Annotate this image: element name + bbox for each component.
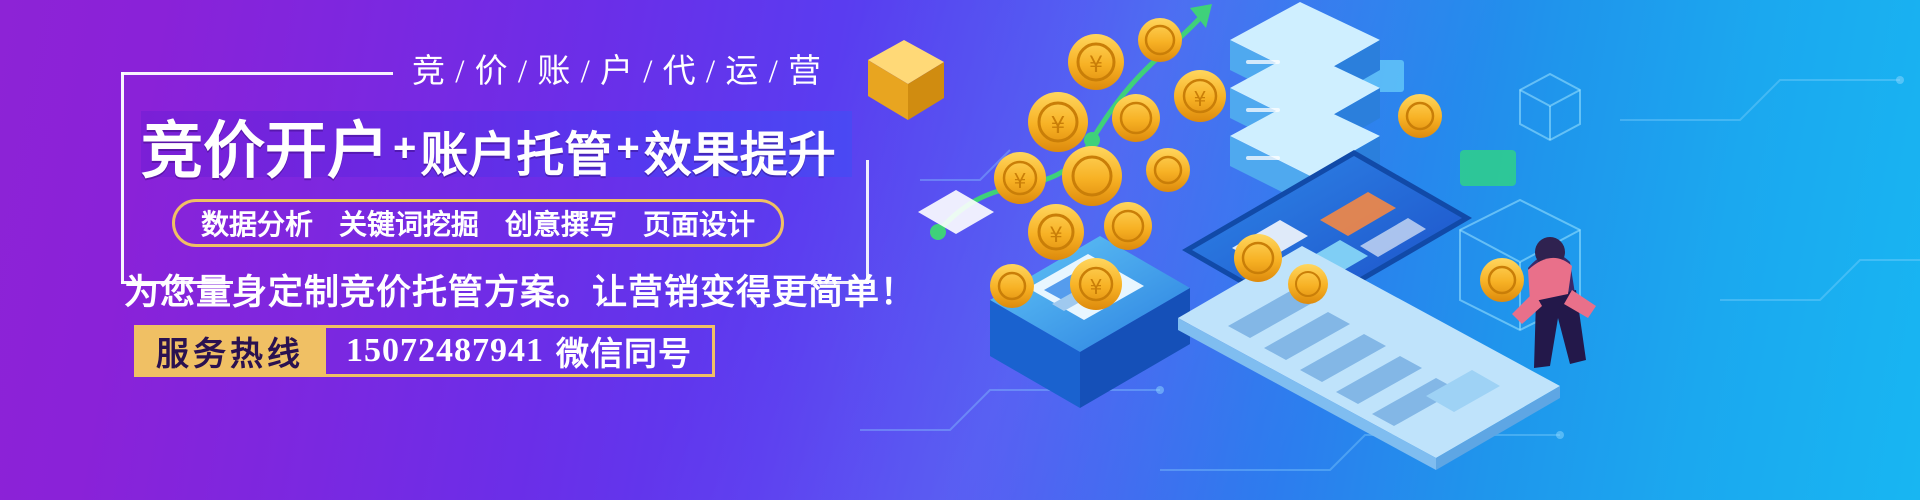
hotline-value: 15072487941 微信同号 (326, 325, 715, 377)
hotline-bar: 服务热线 15072487941 微信同号 (134, 325, 715, 377)
svg-text:¥: ¥ (1051, 113, 1066, 139)
green-panel (1460, 150, 1516, 186)
coin: ¥ (1070, 258, 1122, 310)
coin (1288, 264, 1328, 304)
copy-block: 竞 / 价 / 账 / 户 / 代 / 运 / 营 竞价开户 + 账户托管 + … (0, 0, 940, 500)
coin: ¥ (1068, 34, 1124, 90)
svg-text:¥: ¥ (1014, 169, 1027, 193)
coin (1234, 234, 1282, 282)
gold-box (868, 40, 944, 120)
coin (1062, 146, 1122, 206)
coin (1138, 18, 1182, 62)
headline-plus-1: + (389, 126, 420, 171)
coin: ¥ (1028, 92, 1088, 152)
service-item-0: 数据分析 (201, 203, 313, 243)
hotline-number[interactable]: 15072487941 (346, 332, 544, 370)
coin (1104, 202, 1152, 250)
promo-banner: 竞 / 价 / 账 / 户 / 代 / 运 / 营 竞价开户 + 账户托管 + … (0, 0, 1920, 500)
services-pill: 数据分析 关键词挖掘 创意撰写 页面设计 (172, 199, 784, 247)
headline-part-3: 效果提升 (644, 115, 836, 185)
coin (990, 264, 1034, 308)
svg-text:¥: ¥ (1090, 275, 1103, 299)
coin (1480, 258, 1524, 302)
headline-part-1: 竞价开户 (141, 100, 389, 190)
service-item-3: 页面设计 (643, 203, 755, 243)
coin (1112, 94, 1160, 142)
bracket-top-rule (121, 72, 393, 75)
eyebrow-text: 竞 / 价 / 账 / 户 / 代 / 运 / 营 (412, 44, 882, 92)
svg-text:¥: ¥ (1194, 87, 1207, 111)
headline: 竞价开户 + 账户托管 + 效果提升 (141, 103, 901, 187)
arrow-node (1084, 132, 1100, 148)
svg-text:¥: ¥ (1049, 223, 1062, 247)
service-item-1: 关键词挖掘 (339, 203, 479, 243)
person-standing (1512, 237, 1596, 368)
service-item-2: 创意撰写 (505, 203, 617, 243)
laptop (1178, 150, 1560, 470)
illustration: ¥ ¥ ¥ ¥ ¥ ¥ (860, 0, 1920, 500)
coin: ¥ (1174, 70, 1226, 122)
hotline-wechat-note: 微信同号 (556, 327, 692, 375)
headline-plus-2: + (612, 126, 643, 171)
coin (1146, 148, 1190, 192)
coin: ¥ (1028, 204, 1084, 260)
svg-text:¥: ¥ (1089, 53, 1103, 78)
coin (1398, 94, 1442, 138)
tagline-text: 为您量身定制竞价托管方案。让营销变得更简单！ (124, 265, 924, 313)
wireframe-cube-small-icon (1520, 74, 1580, 140)
headline-part-2: 账户托管 (420, 115, 612, 185)
bracket-left-vertical (121, 72, 124, 284)
coin: ¥ (994, 152, 1046, 204)
hotline-label: 服务热线 (134, 325, 326, 377)
